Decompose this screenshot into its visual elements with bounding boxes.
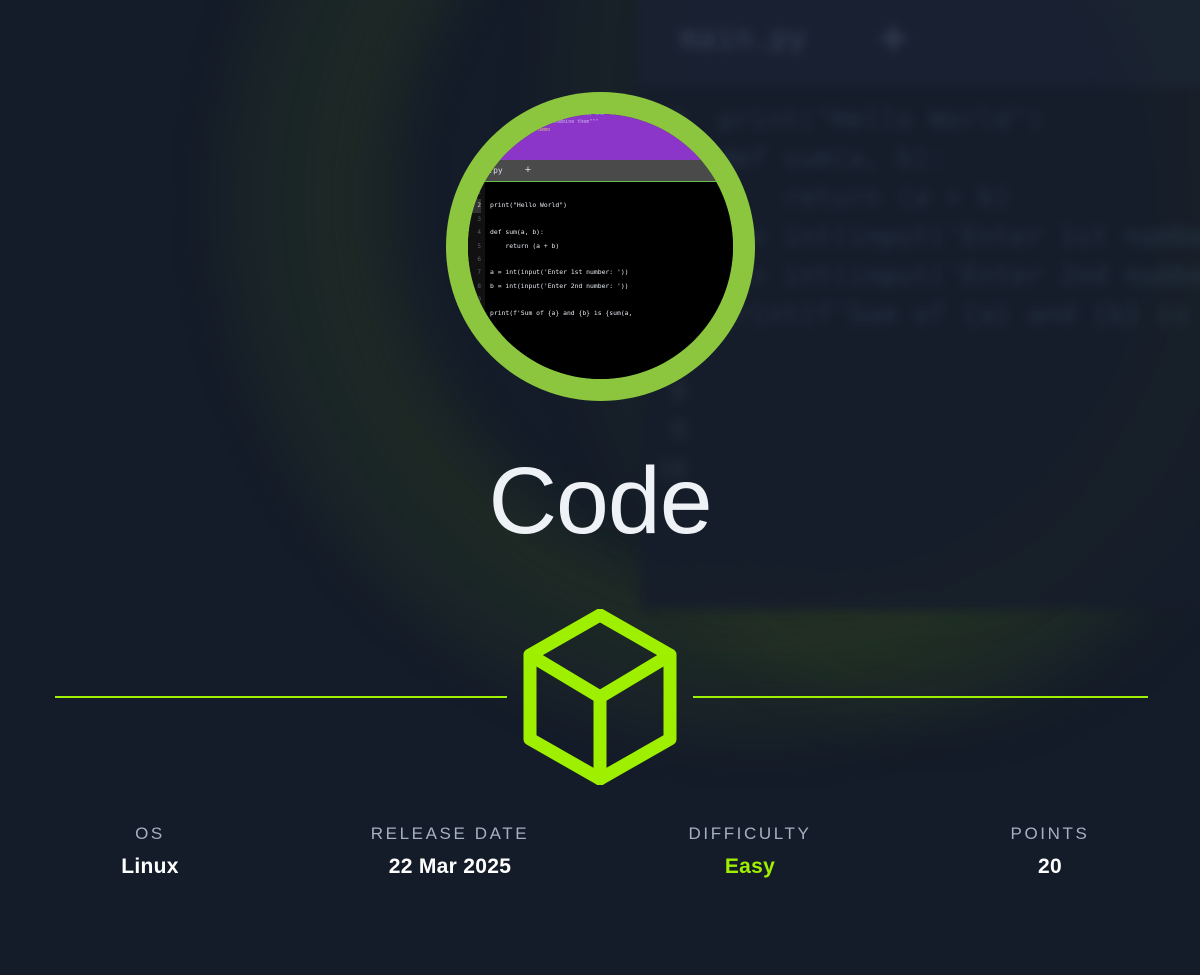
background-editor-tab-label: main.py xyxy=(680,21,806,56)
background-code-line: def sum(a, b): xyxy=(718,139,1200,178)
stat-difficulty: DIFFICULTY Easy xyxy=(600,824,900,879)
avatar-code-line: print("Hello World") xyxy=(490,199,733,212)
background-code-line: print("Hello World") xyxy=(718,100,1200,139)
avatar-line-number: 10 xyxy=(468,307,481,320)
avatar-line-number: 2 xyxy=(468,199,481,212)
avatar-code-line: print(f'Sum of {a} and {b} is {sum(a, xyxy=(490,307,733,320)
avatar-code-line xyxy=(490,320,733,333)
avatar-editor-screenshot: """main.py - numbers, sums, and a few wa… xyxy=(468,114,733,379)
avatar-editor-header: """main.py - numbers, sums, and a few wa… xyxy=(468,114,733,160)
divider-left xyxy=(55,696,507,698)
avatar-line-number: 4 xyxy=(468,226,481,239)
avatar-line-number: 1 xyxy=(468,186,481,199)
plus-icon: + xyxy=(876,18,910,58)
avatar-code-line: b = int(input('Enter 2nd number: ')) xyxy=(490,280,733,293)
background-code-line: return (a + b) xyxy=(718,178,1200,217)
stat-points: POINTS 20 xyxy=(900,824,1200,879)
stat-label-points: POINTS xyxy=(900,824,1200,844)
avatar-line-number: 9 xyxy=(468,293,481,306)
avatar-line-number: 7 xyxy=(468,266,481,279)
background-editor-tabbar: main.py + xyxy=(640,0,1200,86)
background-code-line: print(f'Sum of {a} and {b} is {s xyxy=(718,295,1200,334)
stat-label-os: OS xyxy=(0,824,300,844)
avatar-code-line: a = int(input('Enter 1st number: ')) xyxy=(490,266,733,279)
avatar-editor-code: print("Hello World")def sum(a, b): retur… xyxy=(485,182,733,379)
background-line-number: 9 xyxy=(640,412,686,451)
avatar-header-line: # simple demo xyxy=(511,126,714,134)
avatar-header-line: a few ways to combine them""" xyxy=(511,118,714,126)
avatar-editor-tabbar: main.py + xyxy=(468,160,733,182)
avatar-code-line: def sum(a, b): xyxy=(490,226,733,239)
machine-avatar-image: """main.py - numbers, sums, and a few wa… xyxy=(468,114,733,379)
htb-cube-icon xyxy=(507,604,693,790)
avatar-line-number: 3 xyxy=(468,213,481,226)
avatar-line-number: 11 xyxy=(468,320,481,333)
stat-label-release-date: RELEASE DATE xyxy=(300,824,600,844)
avatar-editor-tab-label: main.py xyxy=(469,166,503,175)
stat-value-os: Linux xyxy=(0,855,300,879)
avatar-line-number: 8 xyxy=(468,280,481,293)
machine-avatar: """main.py - numbers, sums, and a few wa… xyxy=(446,92,755,401)
avatar-line-number: 6 xyxy=(468,253,481,266)
avatar-line-number: 5 xyxy=(468,240,481,253)
avatar-code-line: return (a + b) xyxy=(490,240,733,253)
stat-value-points: 20 xyxy=(900,855,1200,879)
divider-row xyxy=(0,604,1200,790)
stat-os: OS Linux xyxy=(0,824,300,879)
stat-label-difficulty: DIFFICULTY xyxy=(600,824,900,844)
divider-right xyxy=(693,696,1148,698)
stat-value-release-date: 22 Mar 2025 xyxy=(300,855,600,879)
background-code-line: b = int(input('Enter 2nd number: xyxy=(718,256,1200,295)
avatar-code-line xyxy=(490,253,733,266)
avatar-code-line xyxy=(490,213,733,226)
avatar-editor-body: 1234567891011 print("Hello World")def su… xyxy=(468,182,733,379)
avatar-code-line xyxy=(490,186,733,199)
avatar-code-line xyxy=(490,293,733,306)
machine-card: main.py + 12345678910 print("Hello World… xyxy=(0,0,1200,975)
page-title: Code xyxy=(0,452,1200,552)
plus-icon: + xyxy=(525,165,531,176)
machine-stats: OS Linux RELEASE DATE 22 Mar 2025 DIFFIC… xyxy=(0,824,1200,879)
stat-value-difficulty: Easy xyxy=(600,855,900,879)
background-code-line: a = int(input('Enter 1st number: xyxy=(718,217,1200,256)
avatar-editor-gutter: 1234567891011 xyxy=(468,182,485,379)
stat-release-date: RELEASE DATE 22 Mar 2025 xyxy=(300,824,600,879)
